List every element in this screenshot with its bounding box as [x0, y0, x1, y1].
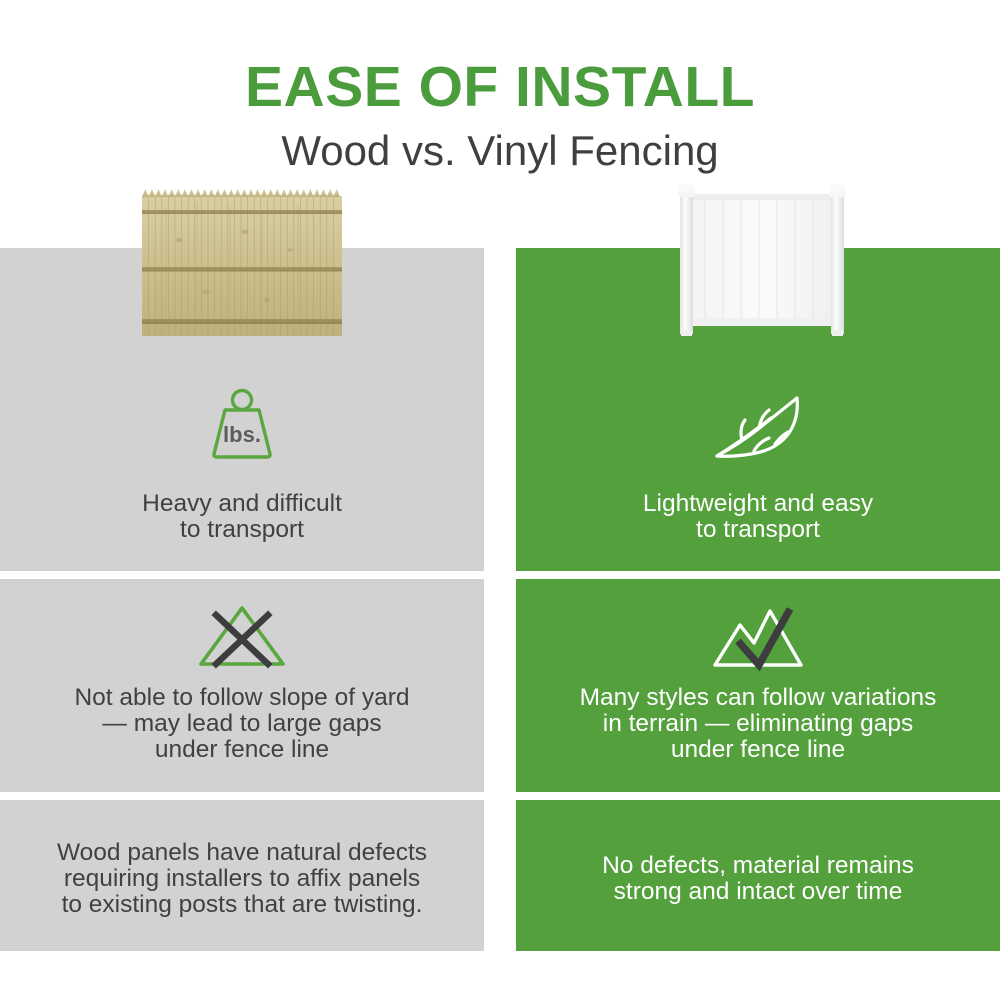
wood-slope-caption: Not able to follow slope of yard — may l…	[0, 685, 484, 763]
caption-line: under fence line	[24, 737, 460, 763]
caption-line: No defects, material remains	[540, 853, 976, 879]
caption-line: Wood panels have natural defects	[24, 840, 460, 866]
weight-lbs-icon-wrap: lbs.	[0, 388, 484, 467]
vinyl-defects-caption: No defects, material remains strong and …	[516, 853, 1000, 905]
comparison-column-vinyl: Lightweight and easy to transport Many s…	[516, 248, 1000, 951]
page-subtitle: Wood vs. Vinyl Fencing	[0, 118, 1000, 174]
row-divider	[0, 571, 484, 579]
comparison-column-wood: lbs. Heavy and difficult to transport No…	[0, 248, 484, 951]
triangle-x-icon	[196, 603, 288, 669]
caption-line: under fence line	[540, 737, 976, 763]
caption-line: Heavy and difficult	[24, 491, 460, 517]
weight-lbs-icon: lbs.	[203, 388, 281, 462]
header: EASE OF INSTALL Wood vs. Vinyl Fencing	[0, 0, 1000, 190]
wood-transport-caption: Heavy and difficult to transport	[0, 491, 484, 543]
caption-line: in terrain — eliminating gaps	[540, 711, 976, 737]
caption-line: strong and intact over time	[540, 879, 976, 905]
caption-line: to transport	[24, 517, 460, 543]
vinyl-fence-image	[667, 180, 857, 338]
wood-row-defects: Wood panels have natural defects requiri…	[0, 800, 484, 951]
wood-row-transport: lbs. Heavy and difficult to transport	[0, 248, 484, 571]
row-divider	[0, 792, 484, 800]
vinyl-terrain-caption: Many styles can follow variations in ter…	[516, 685, 1000, 763]
vinyl-row-defects: No defects, material remains strong and …	[516, 800, 1000, 951]
caption-line: requiring installers to affix panels	[24, 866, 460, 892]
page-title: EASE OF INSTALL	[0, 0, 1000, 118]
caption-line: Lightweight and easy	[540, 491, 976, 517]
triangle-x-icon-wrap	[0, 603, 484, 674]
row-divider	[516, 792, 1000, 800]
wood-row-slope: Not able to follow slope of yard — may l…	[0, 579, 484, 792]
wood-fence-stage	[0, 188, 484, 358]
wood-fence-image	[142, 188, 342, 336]
vinyl-row-transport: Lightweight and easy to transport	[516, 248, 1000, 571]
row-divider	[516, 571, 1000, 579]
weight-icon-label: lbs.	[223, 422, 261, 447]
mountain-check-icon-wrap	[516, 603, 1000, 676]
feather-icon	[709, 388, 807, 464]
wood-defects-caption: Wood panels have natural defects requiri…	[0, 840, 484, 918]
mountain-check-icon	[710, 603, 806, 671]
caption-line: — may lead to large gaps	[24, 711, 460, 737]
feather-icon-wrap	[516, 388, 1000, 469]
caption-line: Many styles can follow variations	[540, 685, 976, 711]
vinyl-transport-caption: Lightweight and easy to transport	[516, 491, 1000, 543]
vinyl-row-terrain: Many styles can follow variations in ter…	[516, 579, 1000, 792]
caption-line: to transport	[540, 517, 976, 543]
caption-line: Not able to follow slope of yard	[24, 685, 460, 711]
vinyl-fence-stage	[516, 188, 1000, 358]
caption-line: to existing posts that are twisting.	[24, 892, 460, 918]
